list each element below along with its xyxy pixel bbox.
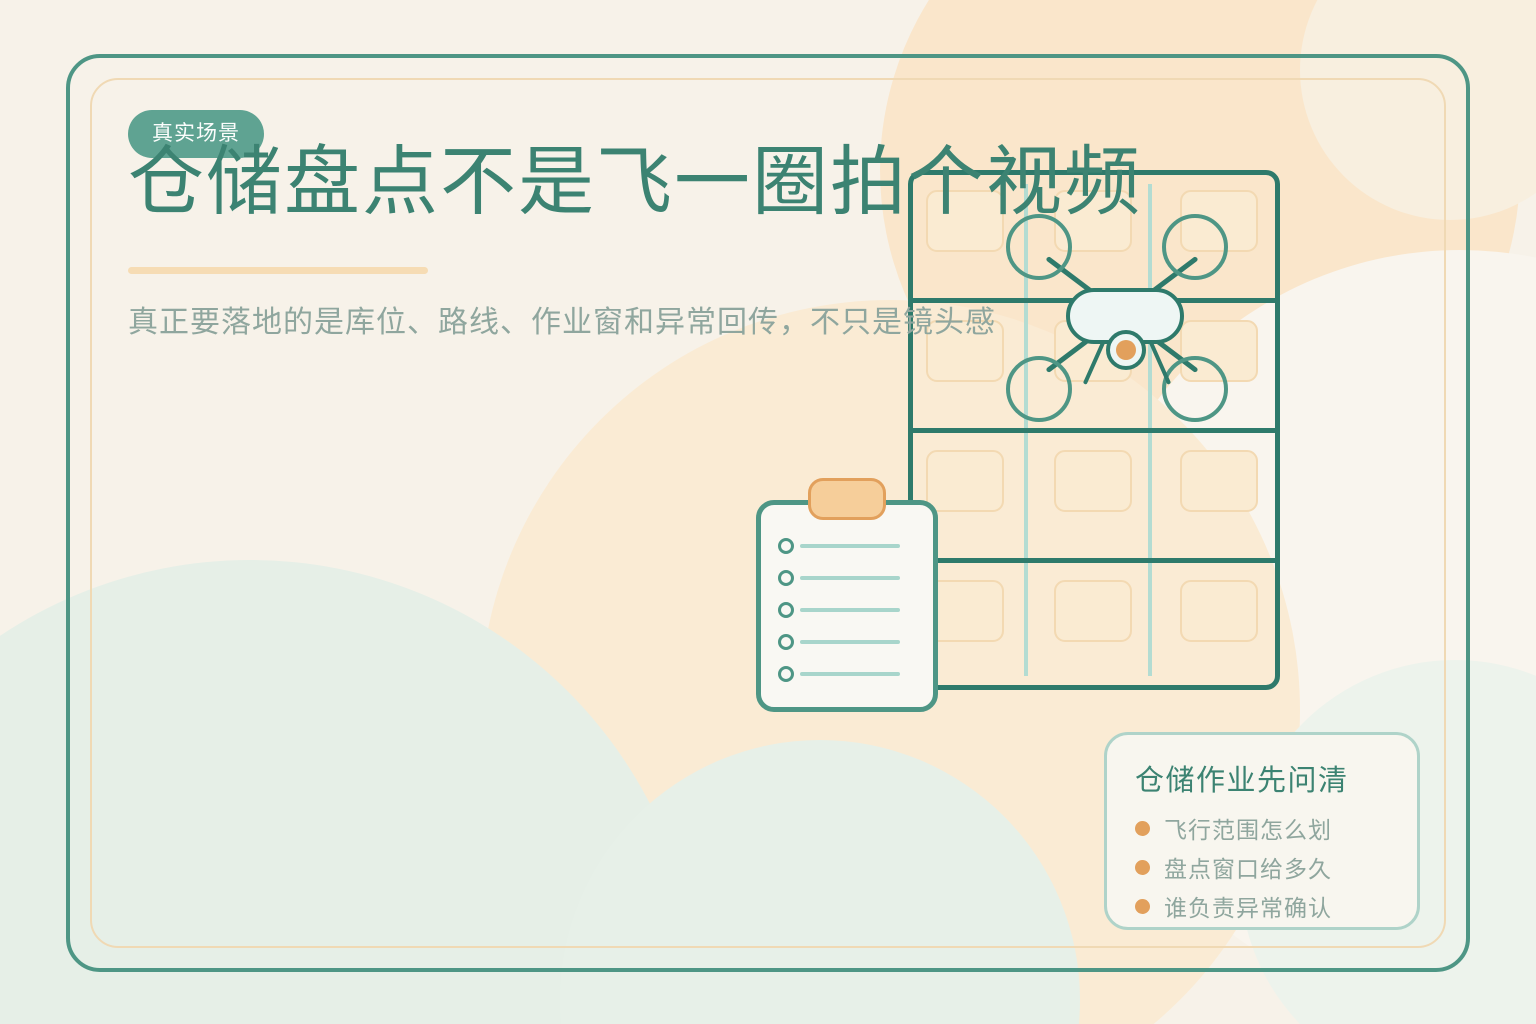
- rack-box: [1180, 450, 1258, 512]
- page-subtitle: 真正要落地的是库位、路线、作业窗和异常回传，不只是镜头感: [128, 302, 1128, 344]
- bullet-dot-icon: [1135, 899, 1150, 914]
- rack-box: [1054, 450, 1132, 512]
- clipboard-line: [800, 672, 900, 676]
- inventory-clipboard-illustration: [756, 500, 938, 712]
- checkbox-circle-icon: [778, 602, 794, 618]
- checklist-item-label: 飞行范围怎么划: [1164, 811, 1332, 845]
- clipboard-line: [800, 640, 900, 644]
- rack-shelf-rail-3: [908, 558, 1280, 563]
- drone-rotor-icon: [1006, 356, 1072, 422]
- checklist-item: 飞行范围怎么划: [1135, 811, 1417, 845]
- checklist-card-title: 仓储作业先问清: [1135, 757, 1417, 799]
- checklist-item: 谁负责异常确认: [1135, 889, 1417, 923]
- clipboard-clip: [808, 478, 886, 520]
- clipboard-row: [778, 666, 900, 682]
- checklist-item-label: 盘点窗口给多久: [1164, 850, 1332, 884]
- checkbox-circle-icon: [778, 666, 794, 682]
- checkbox-circle-icon: [778, 538, 794, 554]
- checklist-item-label: 谁负责异常确认: [1164, 889, 1332, 923]
- clipboard-row: [778, 570, 900, 586]
- drone-rotor-icon: [1162, 214, 1228, 280]
- drone-leg-icon: [1083, 341, 1105, 385]
- bullet-dot-icon: [1135, 821, 1150, 836]
- checklist-card: 仓储作业先问清 飞行范围怎么划 盘点窗口给多久 谁负责异常确认: [1104, 732, 1420, 930]
- clipboard-row: [778, 538, 900, 554]
- title-accent-bar: [128, 267, 428, 274]
- page-title: 仓储盘点不是飞一圈拍个视频: [128, 140, 1078, 225]
- checklist-item: 盘点窗口给多久: [1135, 850, 1417, 884]
- clipboard-line: [800, 576, 900, 580]
- clipboard-row: [778, 634, 900, 650]
- rack-box: [1054, 580, 1132, 642]
- header-block: 真实场景 仓储盘点不是飞一圈拍个视频 真正要落地的是库位、路线、作业窗和异常回传…: [128, 110, 1088, 158]
- clipboard-line: [800, 608, 900, 612]
- checkbox-circle-icon: [778, 634, 794, 650]
- clipboard-line: [800, 544, 900, 548]
- checkbox-circle-icon: [778, 570, 794, 586]
- bullet-dot-icon: [1135, 860, 1150, 875]
- rack-box: [1180, 580, 1258, 642]
- clipboard-row: [778, 602, 900, 618]
- drone-rotor-icon: [1162, 356, 1228, 422]
